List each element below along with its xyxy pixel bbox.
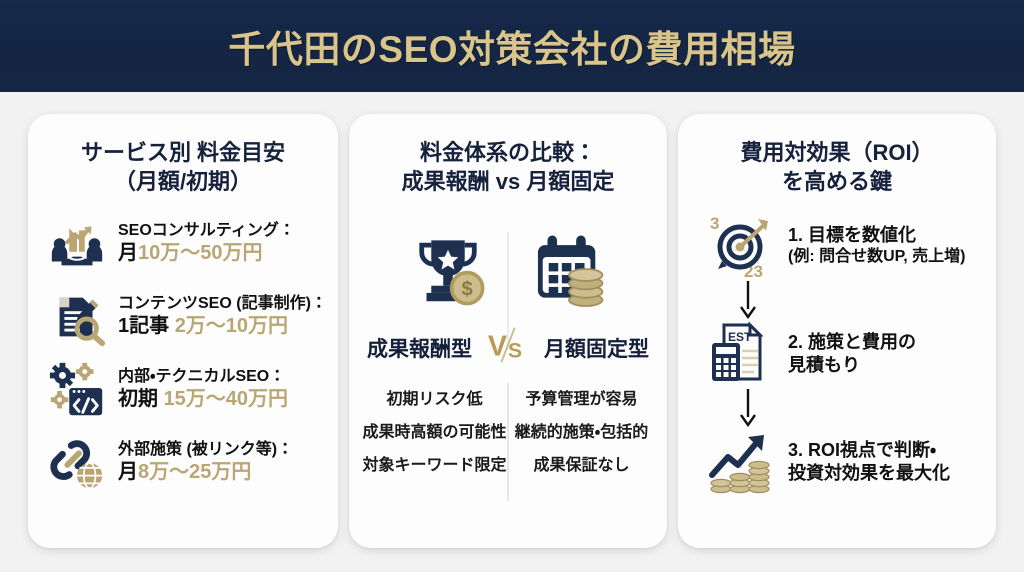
comparison-point: 初期リスク低 [361, 385, 508, 409]
page-header: 千代田のSEO対策会社の費用相場 [0, 0, 1024, 92]
card-comparison-title: 料金体系の比較： 成果報酬 vs 月額固定 [361, 138, 655, 197]
price-amount: 15万〜40万円 [164, 388, 289, 410]
price-amount: 2万〜10万円 [175, 315, 288, 337]
card-roi-title-line1: 費用対効果（ROI） [690, 138, 984, 167]
card-service-pricing: サービス別 料金目安 （月額/初期） [28, 114, 338, 548]
price-prefix: 月 [118, 461, 138, 483]
roi-step-main: 1. 目標を数値化 [788, 224, 966, 247]
target-number-top: 3 [710, 214, 719, 233]
list-item: コンテンツSEO (記事制作)： 1記事 2万〜10万円 [46, 286, 320, 348]
flow-arrow-down-icon [690, 281, 984, 319]
price-prefix: 月 [118, 242, 138, 264]
service-text: コンテンツSEO (記事制作)： 1記事 2万〜10万円 [118, 294, 327, 339]
list-item: 3 23 1. 目標を数値化 (例: 問合せ数UP, 売上増) [690, 211, 984, 281]
price-amount: 8万〜25万円 [138, 461, 251, 483]
roi-step-text: 1. 目標を数値化 (例: 問合せ数UP, 売上増) [788, 224, 966, 268]
comparison-point: 成果時高額の可能性 [361, 418, 508, 442]
price-amount: 10万〜50万円 [138, 242, 263, 264]
calendar-coins-icon [526, 226, 612, 317]
gears-code-window-icon [46, 359, 108, 421]
service-text: 内部・テクニカルSEO： 初期 15万〜40万円 [118, 367, 288, 412]
calculator-estimate-icon: EST [704, 319, 778, 389]
comparison-labels: 成果報酬型 V S 月額固定型 [361, 325, 655, 371]
handshake-growth-icon [46, 213, 108, 275]
service-name: 外部施策 (被リンク等)： [118, 440, 293, 460]
estimate-label: EST [728, 330, 752, 344]
comparison-right-points: 予算管理が容易 継続的施策・包括的 成果保証なし [508, 385, 655, 475]
list-item: SEOコンサルティング： 月10万〜50万円 [46, 213, 320, 275]
comparison-point: 成果保証なし [508, 451, 655, 475]
svg-text:S: S [508, 339, 522, 362]
trophy-coin-icon: $ [405, 226, 491, 317]
card-roi-title: 費用対効果（ROI） を高める鍵 [690, 138, 984, 197]
roi-step-main: 2. 施策と費用の [788, 331, 916, 354]
roi-step-text: 2. 施策と費用の 見積もり [788, 331, 916, 378]
page-title: 千代田のSEO対策会社の費用相場 [228, 19, 795, 73]
card-roi-title-line2: を高める鍵 [690, 167, 984, 196]
card-comparison-title-line1: 料金体系の比較： [361, 138, 655, 167]
price-prefix: 1記事 [118, 315, 175, 337]
card-comparison-title-line2: 成果報酬 vs 月額固定 [361, 167, 655, 196]
service-price: 月10万〜50万円 [118, 241, 295, 266]
service-price: 初期 15万〜40万円 [118, 387, 288, 412]
roi-step-main: 3. ROI視点で判断・ [788, 439, 950, 462]
comparison-right-label: 月額固定型 [544, 333, 649, 363]
comparison-left-label: 成果報酬型 [367, 333, 472, 363]
comparison-divider [508, 383, 509, 501]
card-service-title-line2: （月額/初期） [42, 167, 324, 196]
card-service-title: サービス別 料金目安 （月額/初期） [42, 138, 324, 197]
svg-text:$: $ [461, 278, 472, 300]
list-item: 内部・テクニカルSEO： 初期 15万〜40万円 [46, 359, 320, 421]
comparison-point: 継続的施策・包括的 [508, 418, 655, 442]
comparison-columns: 初期リスク低 成果時高額の可能性 対象キーワード限定 予算管理が容易 継続的施策… [361, 385, 655, 475]
service-text: 外部施策 (被リンク等)： 月8万〜25万円 [118, 440, 293, 485]
chain-link-globe-icon [46, 432, 108, 494]
service-name: SEOコンサルティング： [118, 221, 295, 241]
service-name: コンテンツSEO (記事制作)： [118, 294, 327, 314]
service-name: 内部・テクニカルSEO： [118, 367, 288, 387]
list-item: EST 2. 施策と費用の [690, 319, 984, 389]
card-roi-keys: 費用対効果（ROI） を高める鍵 3 23 [678, 114, 996, 548]
flow-arrow-down-icon [690, 389, 984, 427]
roi-step-list: 3 23 1. 目標を数値化 (例: 問合せ数UP, 売上増) [690, 211, 984, 497]
comparison-left-points: 初期リスク低 成果時高額の可能性 対象キーワード限定 [361, 385, 508, 475]
comparison-point: 予算管理が容易 [508, 385, 655, 409]
service-price: 1記事 2万〜10万円 [118, 314, 327, 339]
service-list: SEOコンサルティング： 月10万〜50万円 [42, 213, 324, 494]
svg-text:V: V [488, 330, 507, 362]
cards-container: サービス別 料金目安 （月額/初期） [0, 92, 1024, 572]
vs-badge: V S [484, 325, 532, 371]
roi-step-text: 3. ROI視点で判断・ 投資対効果を最大化 [788, 439, 950, 486]
service-text: SEOコンサルティング： 月10万〜50万円 [118, 221, 295, 266]
list-item: 外部施策 (被リンク等)： 月8万〜25万円 [46, 432, 320, 494]
target-arrow-icon: 3 23 [704, 211, 778, 281]
comparison-point: 対象キーワード限定 [361, 451, 508, 475]
service-price: 月8万〜25万円 [118, 460, 293, 485]
roi-step-sub: 見積もり [788, 354, 916, 377]
list-item: 3. ROI視点で判断・ 投資対効果を最大化 [690, 427, 984, 497]
growth-coins-icon [704, 427, 778, 497]
card-pricing-comparison: 料金体系の比較： 成果報酬 vs 月額固定 $ [349, 114, 667, 548]
roi-step-sub: 投資対効果を最大化 [788, 462, 950, 485]
card-service-title-line1: サービス別 料金目安 [42, 138, 324, 167]
roi-step-sub: (例: 問合せ数UP, 売上増) [788, 247, 966, 268]
price-prefix: 初期 [118, 388, 164, 410]
document-pencil-search-icon [46, 286, 108, 348]
